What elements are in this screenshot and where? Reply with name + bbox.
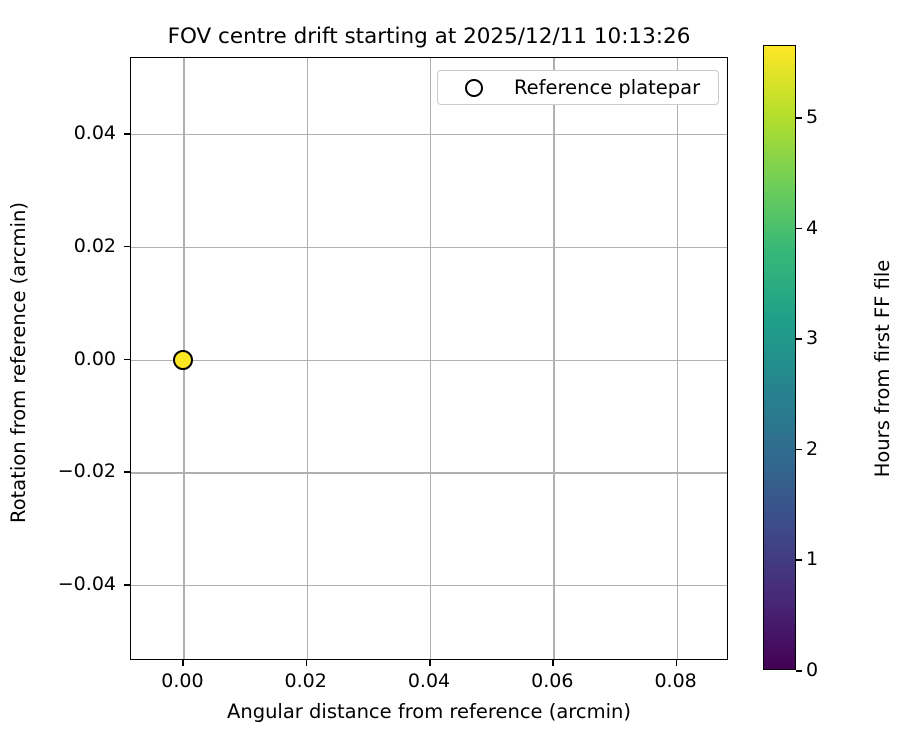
y-tick-mark [124, 133, 130, 135]
figure-canvas: FOV centre drift starting at 2025/12/11 … [0, 0, 900, 750]
legend-item-label: Reference platepar [514, 76, 700, 99]
colorbar-tick-label: 2 [806, 438, 818, 460]
x-tick-mark [306, 660, 308, 666]
colorbar-label: Hours from first FF file [871, 56, 894, 681]
page-title: FOV centre drift starting at 2025/12/11 … [130, 24, 728, 50]
data-layer [131, 58, 727, 659]
legend[interactable]: Reference platepar [437, 70, 719, 105]
colorbar[interactable] [763, 45, 796, 670]
x-tick-label: 0.06 [531, 670, 573, 692]
x-tick-label: 0.00 [161, 670, 203, 692]
data-point[interactable] [173, 350, 193, 370]
colorbar-tick-mark [796, 338, 802, 340]
colorbar-tick-label: 4 [806, 217, 818, 239]
x-tick-mark [182, 660, 184, 666]
colorbar-tick-mark [796, 228, 802, 230]
colorbar-gradient [764, 46, 795, 669]
colorbar-tick-mark [796, 449, 802, 451]
colorbar-tick-mark [796, 559, 802, 561]
x-tick-label: 0.08 [654, 670, 696, 692]
legend-marker-circle-icon [465, 79, 483, 97]
colorbar-tick-label: 5 [806, 106, 818, 128]
colorbar-tick-label: 1 [806, 548, 818, 570]
x-tick-mark [676, 660, 678, 666]
x-tick-label: 0.02 [285, 670, 327, 692]
colorbar-tick-label: 3 [806, 327, 818, 349]
y-tick-mark [124, 471, 130, 473]
x-tick-mark [552, 660, 554, 666]
x-tick-label: 0.04 [408, 670, 450, 692]
y-axis-label: Rotation from reference (arcmin) [7, 61, 30, 664]
x-tick-mark [429, 660, 431, 666]
y-tick-mark [124, 584, 130, 586]
colorbar-tick-mark [796, 117, 802, 119]
y-tick-mark [124, 359, 130, 361]
x-axis-label: Angular distance from reference (arcmin) [130, 700, 728, 723]
colorbar-tick-label: 0 [806, 659, 818, 681]
y-tick-mark [124, 246, 130, 248]
colorbar-tick-mark [796, 670, 802, 672]
plot-area[interactable] [130, 57, 728, 660]
